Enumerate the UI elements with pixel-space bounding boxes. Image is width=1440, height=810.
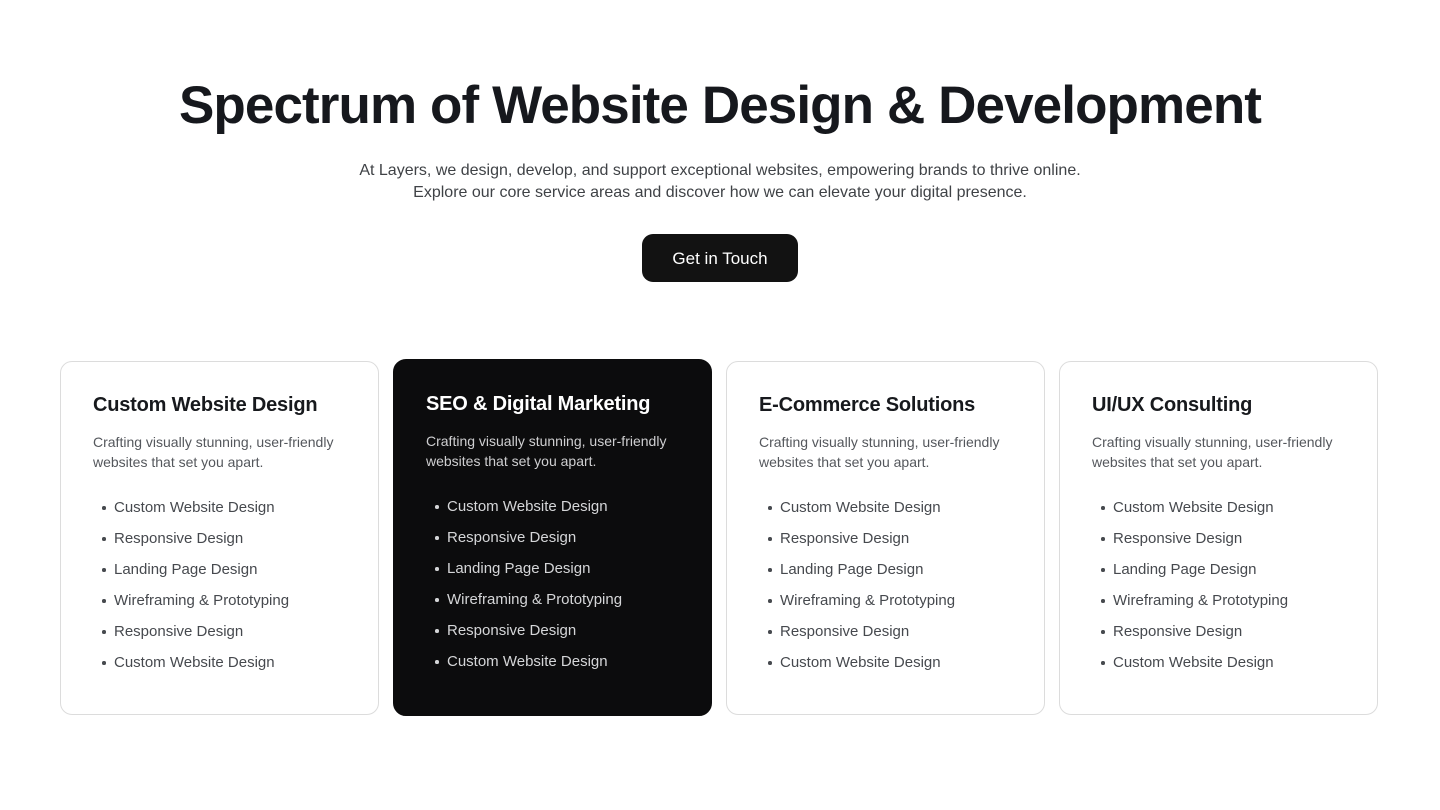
service-feature-item: Responsive Design — [1092, 622, 1347, 641]
hero-section: Spectrum of Website Design & Development… — [0, 0, 1440, 282]
service-feature-item: Custom Website Design — [1092, 653, 1347, 672]
cta-container: Get in Touch — [0, 234, 1440, 282]
service-feature-item: Custom Website Design — [93, 653, 348, 672]
service-card[interactable]: SEO & Digital MarketingCrafting visually… — [393, 359, 712, 716]
service-card-title: Custom Website Design — [93, 392, 348, 418]
service-card[interactable]: E-Commerce SolutionsCrafting visually st… — [726, 361, 1045, 715]
page-title: Spectrum of Website Design & Development — [0, 74, 1440, 138]
service-feature-list: Custom Website DesignResponsive DesignLa… — [93, 498, 348, 672]
service-card-description: Crafting visually stunning, user-friendl… — [426, 431, 681, 471]
service-feature-list: Custom Website DesignResponsive DesignLa… — [759, 498, 1014, 672]
service-feature-item: Custom Website Design — [1092, 498, 1347, 517]
service-feature-item: Wireframing & Prototyping — [1092, 591, 1347, 610]
landing-page: Spectrum of Website Design & Development… — [0, 0, 1440, 810]
service-card-title: E-Commerce Solutions — [759, 392, 1014, 418]
service-card-grid: Custom Website DesignCrafting visually s… — [60, 361, 1380, 716]
service-feature-item: Landing Page Design — [426, 559, 681, 578]
service-feature-item: Landing Page Design — [759, 560, 1014, 579]
service-feature-item: Responsive Design — [426, 621, 681, 640]
service-card[interactable]: Custom Website DesignCrafting visually s… — [60, 361, 379, 715]
service-feature-item: Custom Website Design — [426, 497, 681, 516]
service-feature-item: Wireframing & Prototyping — [426, 590, 681, 609]
service-feature-item: Landing Page Design — [93, 560, 348, 579]
service-feature-item: Landing Page Design — [1092, 560, 1347, 579]
service-feature-item: Custom Website Design — [93, 498, 348, 517]
service-card-title: UI/UX Consulting — [1092, 392, 1347, 418]
service-feature-item: Responsive Design — [426, 528, 681, 547]
service-feature-list: Custom Website DesignResponsive DesignLa… — [426, 497, 681, 671]
get-in-touch-button[interactable]: Get in Touch — [642, 234, 797, 282]
service-feature-item: Responsive Design — [93, 529, 348, 548]
service-feature-item: Wireframing & Prototyping — [759, 591, 1014, 610]
service-feature-item: Custom Website Design — [426, 652, 681, 671]
service-feature-list: Custom Website DesignResponsive DesignLa… — [1092, 498, 1347, 672]
service-feature-item: Responsive Design — [759, 529, 1014, 548]
service-feature-item: Responsive Design — [1092, 529, 1347, 548]
service-card-description: Crafting visually stunning, user-friendl… — [759, 432, 1014, 472]
service-card-description: Crafting visually stunning, user-friendl… — [1092, 432, 1347, 472]
service-feature-item: Wireframing & Prototyping — [93, 591, 348, 610]
service-feature-item: Responsive Design — [759, 622, 1014, 641]
service-feature-item: Responsive Design — [93, 622, 348, 641]
hero-subtitle-line-2: Explore our core service areas and disco… — [0, 182, 1440, 204]
hero-subtitle-line-1: At Layers, we design, develop, and suppo… — [0, 160, 1440, 182]
service-feature-item: Custom Website Design — [759, 498, 1014, 517]
service-card-title: SEO & Digital Marketing — [426, 391, 681, 417]
service-card[interactable]: UI/UX ConsultingCrafting visually stunni… — [1059, 361, 1378, 715]
service-card-description: Crafting visually stunning, user-friendl… — [93, 432, 348, 472]
service-feature-item: Custom Website Design — [759, 653, 1014, 672]
hero-subtitle: At Layers, we design, develop, and suppo… — [0, 160, 1440, 204]
